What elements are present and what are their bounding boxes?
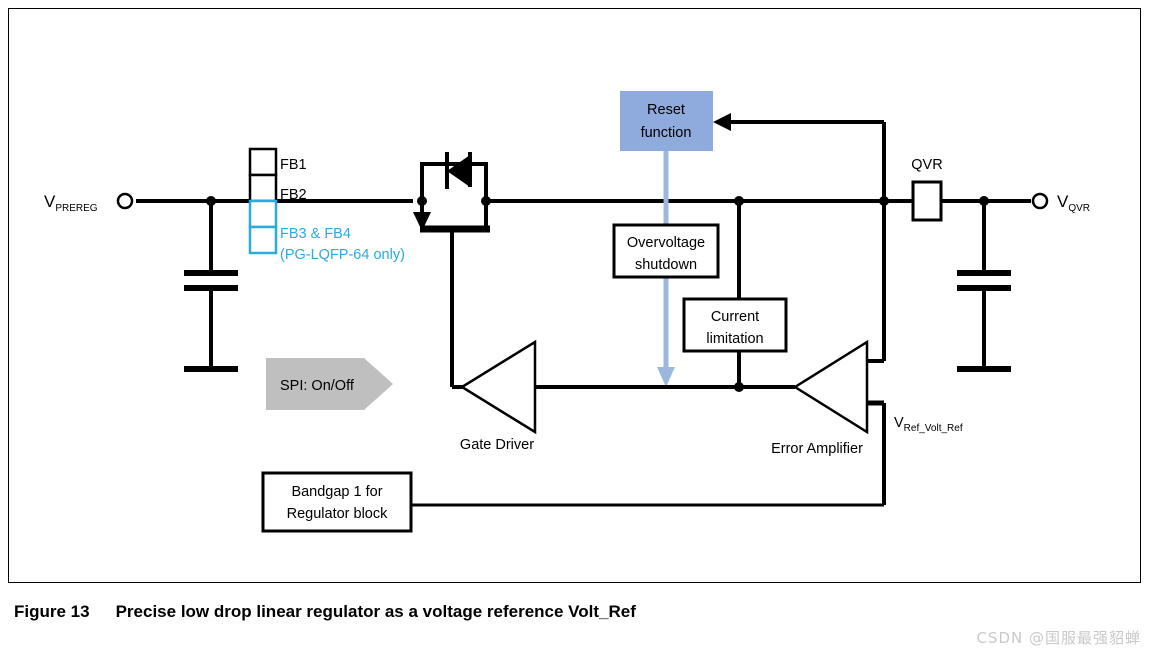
reset-function-block[interactable] <box>620 91 713 151</box>
fb-label-3: FB3 & FB4 <box>280 226 351 242</box>
fb-label-4: (PG-LQFP-64 only) <box>280 247 405 263</box>
reset-function-label-line2: function <box>641 125 692 141</box>
figure-page: VPREREG VQVR FB1 F <box>0 0 1151 654</box>
fb-cell-1 <box>250 149 276 175</box>
overvoltage-shutdown-label-line1: Overvoltage <box>627 235 705 251</box>
input-capacitor <box>184 196 238 369</box>
output-terminal-circle <box>1033 194 1047 208</box>
overvoltage-shutdown-label-line2: shutdown <box>635 257 697 273</box>
output-capacitor <box>957 196 1011 369</box>
input-terminal-label: VPREREG <box>44 192 98 214</box>
current-limitation-label-line2: limitation <box>706 331 763 347</box>
reset-function-label-line1: Reset <box>647 102 685 118</box>
error-amplifier-label: Error Amplifier <box>771 441 863 457</box>
circuit-diagram: VPREREG VQVR FB1 F <box>9 9 1140 582</box>
figure-frame: VPREREG VQVR FB1 F <box>8 8 1141 583</box>
figure-caption-text: Precise low drop linear regulator as a v… <box>116 602 636 622</box>
bandgap-label-line2: Regulator block <box>287 506 388 522</box>
figure-number: Figure 13 <box>14 602 90 622</box>
current-limitation-label-line1: Current <box>711 309 759 325</box>
bandgap-block[interactable] <box>263 473 411 531</box>
fb-cell-3 <box>250 201 276 227</box>
reset-feedback-arrow <box>713 113 889 206</box>
qvr-resistor-label: QVR <box>911 157 942 173</box>
fb-cell-2 <box>250 175 276 201</box>
csdn-watermark: CSDN @国服最强貂蝉 <box>976 627 1141 648</box>
figure-caption: Figure 13 Precise low drop linear regula… <box>14 592 1134 632</box>
gate-driver <box>462 342 569 432</box>
fb-label-2: FB2 <box>280 187 307 203</box>
error-amp-reference-wire <box>867 403 884 505</box>
reference-voltage-label: VRef_Volt_Ref <box>894 415 963 434</box>
qvr-resistor <box>913 182 941 220</box>
bandgap-label-line1: Bandgap 1 for <box>291 484 382 500</box>
pass-mosfet <box>413 152 491 387</box>
input-terminal-circle <box>118 194 132 208</box>
current-sense-wire <box>734 196 744 392</box>
spi-onoff-label: SPI: On/Off <box>280 378 355 394</box>
error-amp-feedback-wire <box>867 201 884 361</box>
output-terminal-label: VQVR <box>1057 192 1090 214</box>
fb-stack <box>250 149 276 253</box>
error-amplifier <box>795 342 867 432</box>
fb-label-1: FB1 <box>280 157 307 173</box>
gate-driver-label: Gate Driver <box>460 437 534 453</box>
fb-cell-4 <box>250 227 276 253</box>
